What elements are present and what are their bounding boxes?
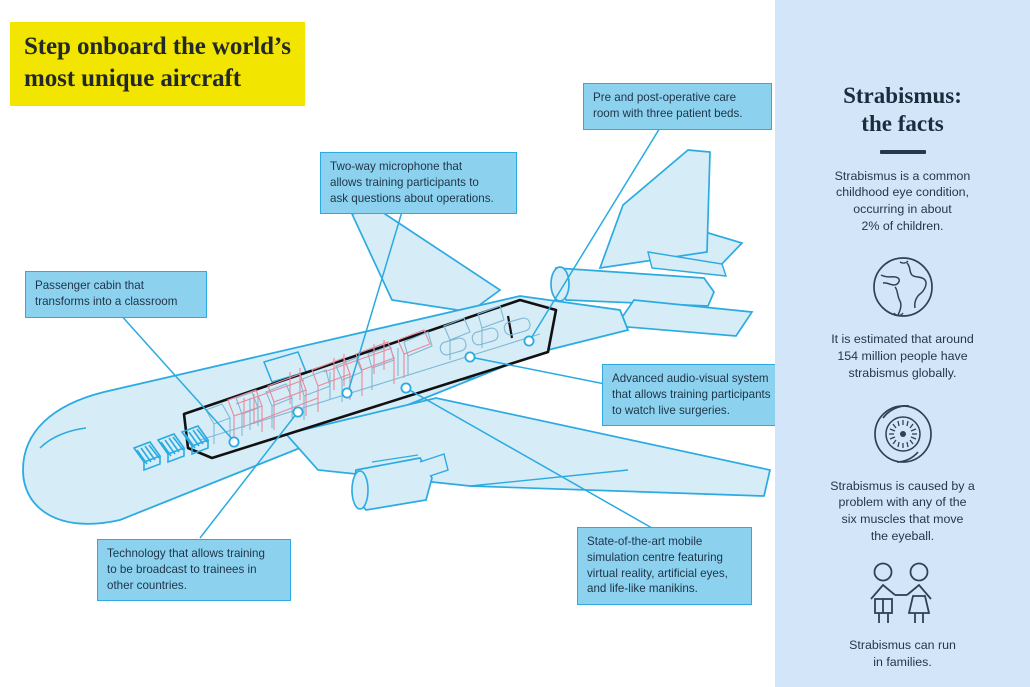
fact-heredity: Strabismus can run in families. — [775, 561, 1030, 671]
endpoint-simulation — [401, 383, 410, 392]
callout-text: Pre and post-operative care room with th… — [593, 90, 762, 122]
eye-icon — [867, 398, 939, 470]
sidebar-title-rule — [880, 150, 926, 154]
infographic-root: Step onboard the world’s most unique air… — [0, 0, 1030, 687]
endpoint-microphone — [342, 388, 351, 397]
callout-two-way-microphone[interactable]: Two-way microphone that allows training … — [320, 152, 517, 214]
callout-text: Two-way microphone that allows training … — [330, 159, 507, 206]
endpoint-pre-post — [524, 336, 533, 345]
fact-cause: Strabismus is caused by a problem with a… — [775, 398, 1030, 545]
callout-mobile-simulation-centre[interactable]: State-of-the-art mobile simulation centr… — [577, 527, 752, 605]
sidebar-title: Strabismus: the facts — [775, 82, 1030, 138]
callout-text: Technology that allows training to be br… — [107, 546, 281, 593]
page-title-line2: most unique aircraft — [24, 63, 291, 95]
globe-icon — [867, 251, 939, 323]
fact-text: Strabismus is caused by a problem with a… — [775, 478, 1030, 545]
aircraft-illustration-panel: Step onboard the world’s most unique air… — [0, 0, 775, 687]
fact-global-count: It is estimated that around 154 million … — [775, 251, 1030, 382]
callout-text: Passenger cabin that transforms into a c… — [35, 278, 197, 310]
family-icon — [857, 561, 949, 629]
fact-prevalence: Strabismus is a common childhood eye con… — [775, 168, 1030, 235]
strabismus-facts-sidebar: Strabismus: the facts Strabismus is a co… — [775, 0, 1030, 687]
endpoint-technology — [293, 407, 302, 416]
callout-text: State-of-the-art mobile simulation centr… — [587, 534, 742, 597]
callout-technology-broadcast[interactable]: Technology that allows training to be br… — [97, 539, 291, 601]
fact-text: Strabismus can run in families. — [775, 637, 1030, 671]
page-title-line1: Step onboard the world’s — [24, 31, 291, 63]
callout-advanced-audio-visual[interactable]: Advanced audio-visual system that allows… — [602, 364, 775, 426]
main-wing-far — [352, 208, 500, 312]
endpoint-audiovisual — [465, 352, 474, 361]
page-title: Step onboard the world’s most unique air… — [10, 22, 305, 106]
callout-passenger-cabin[interactable]: Passenger cabin that transforms into a c… — [25, 271, 207, 318]
tail-cone-opening — [551, 267, 569, 301]
horizontal-stabilizer-lower — [616, 300, 752, 336]
endpoint-passenger-cabin — [229, 437, 238, 446]
callout-pre-post-operative-care[interactable]: Pre and post-operative care room with th… — [583, 83, 772, 130]
fact-text: Strabismus is a common childhood eye con… — [775, 168, 1030, 235]
fact-text: It is estimated that around 154 million … — [775, 331, 1030, 382]
vertical-tail-fin — [600, 150, 710, 268]
callout-text: Advanced audio-visual system that allows… — [612, 371, 775, 418]
